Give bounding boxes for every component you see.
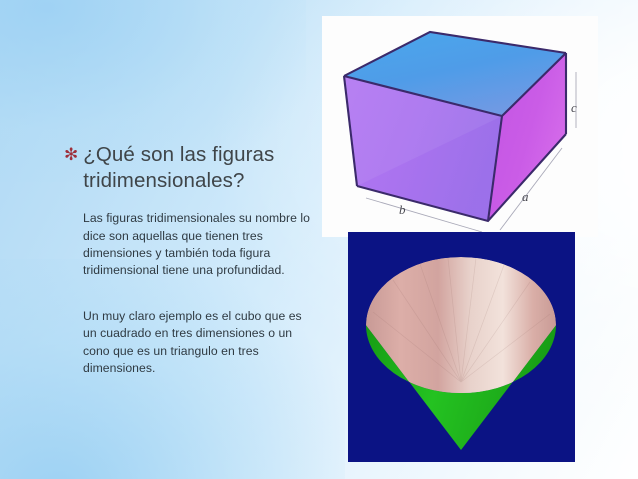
cube-label-a: a: [522, 189, 529, 204]
page-title: ¿Qué son las figuras tridimensionales?: [83, 142, 279, 194]
body-paragraph-2: Un muy claro ejemplo es el cubo que es u…: [83, 308, 314, 378]
cube-image: b a c: [322, 16, 598, 237]
slide-title-row: ✻ ¿Qué son las figuras tridimensionales?: [64, 142, 314, 194]
body-paragraph-1: Las figuras tridimensionales su nombre l…: [83, 210, 314, 280]
asterisk-bullet-icon: ✻: [64, 147, 78, 164]
cube-label-c: c: [571, 100, 577, 115]
cone-svg: [348, 232, 575, 462]
presentation-slide: ✻ ¿Qué son las figuras tridimensionales?…: [0, 0, 638, 479]
cube-label-b: b: [399, 202, 406, 217]
cone-image: [348, 232, 575, 462]
slide-text-column: ✻ ¿Qué son las figuras tridimensionales?…: [64, 142, 314, 378]
cube-svg: b a c: [322, 16, 598, 237]
